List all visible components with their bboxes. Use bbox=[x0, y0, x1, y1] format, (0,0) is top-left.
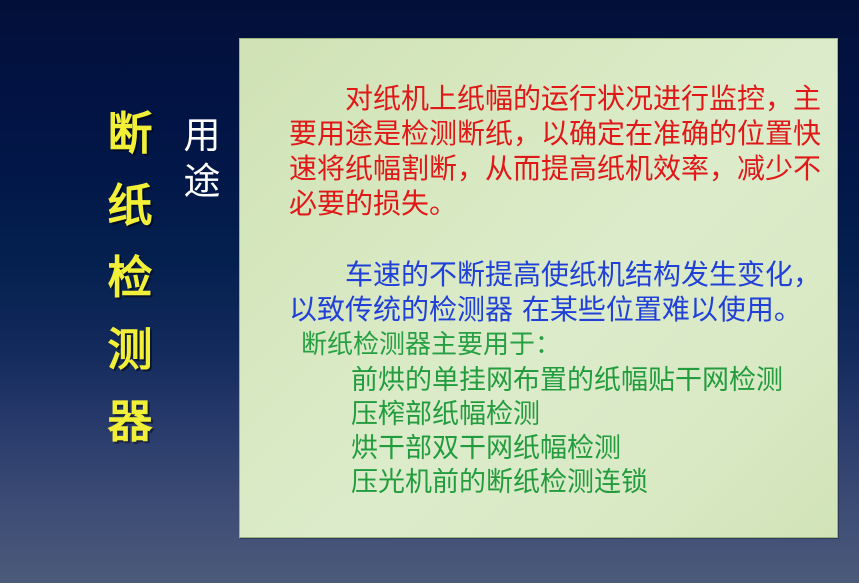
subtitle-char-1: 用 bbox=[184, 113, 221, 159]
paragraph-background-blue: 车速的不断提高使纸机结构发生变化，以致传统的检测器 在某些位置难以使用。 bbox=[289, 257, 837, 327]
list-item: 烘干部双干网纸幅检测 bbox=[351, 432, 783, 466]
title-char-5: 器 bbox=[107, 386, 152, 458]
title-char-2: 纸 bbox=[107, 170, 152, 242]
list-item: 压光机前的断纸检测连锁 bbox=[351, 466, 783, 500]
subtitle-char-2: 途 bbox=[184, 159, 221, 205]
list-item: 前烘的单挂网布置的纸幅贴干网检测 bbox=[351, 364, 783, 398]
title-char-4: 测 bbox=[107, 314, 152, 386]
slide-vertical-subtitle: 用 途 bbox=[176, 113, 228, 205]
slide-vertical-title: 断 纸 检 测 器 bbox=[98, 98, 162, 478]
content-panel: 对纸机上纸幅的运行状况进行监控，主要用途是检测断纸，以确定在准确的位置快速将纸幅… bbox=[239, 38, 838, 538]
application-list: 前烘的单挂网布置的纸幅贴干网检测 压榨部纸幅检测 烘干部双干网纸幅检测 压光机前… bbox=[351, 364, 783, 500]
presentation-slide: 断 纸 检 测 器 用 途 对纸机上纸幅的运行状况进行监控，主要用途是检测断纸，… bbox=[0, 0, 859, 583]
title-char-1: 断 bbox=[107, 98, 152, 170]
list-heading: 断纸检测器主要用于： bbox=[301, 329, 561, 361]
title-char-3: 检 bbox=[107, 242, 152, 314]
paragraph-purpose-red: 对纸机上纸幅的运行状况进行监控，主要用途是检测断纸，以确定在准确的位置快速将纸幅… bbox=[289, 81, 834, 221]
list-item: 压榨部纸幅检测 bbox=[351, 398, 783, 432]
